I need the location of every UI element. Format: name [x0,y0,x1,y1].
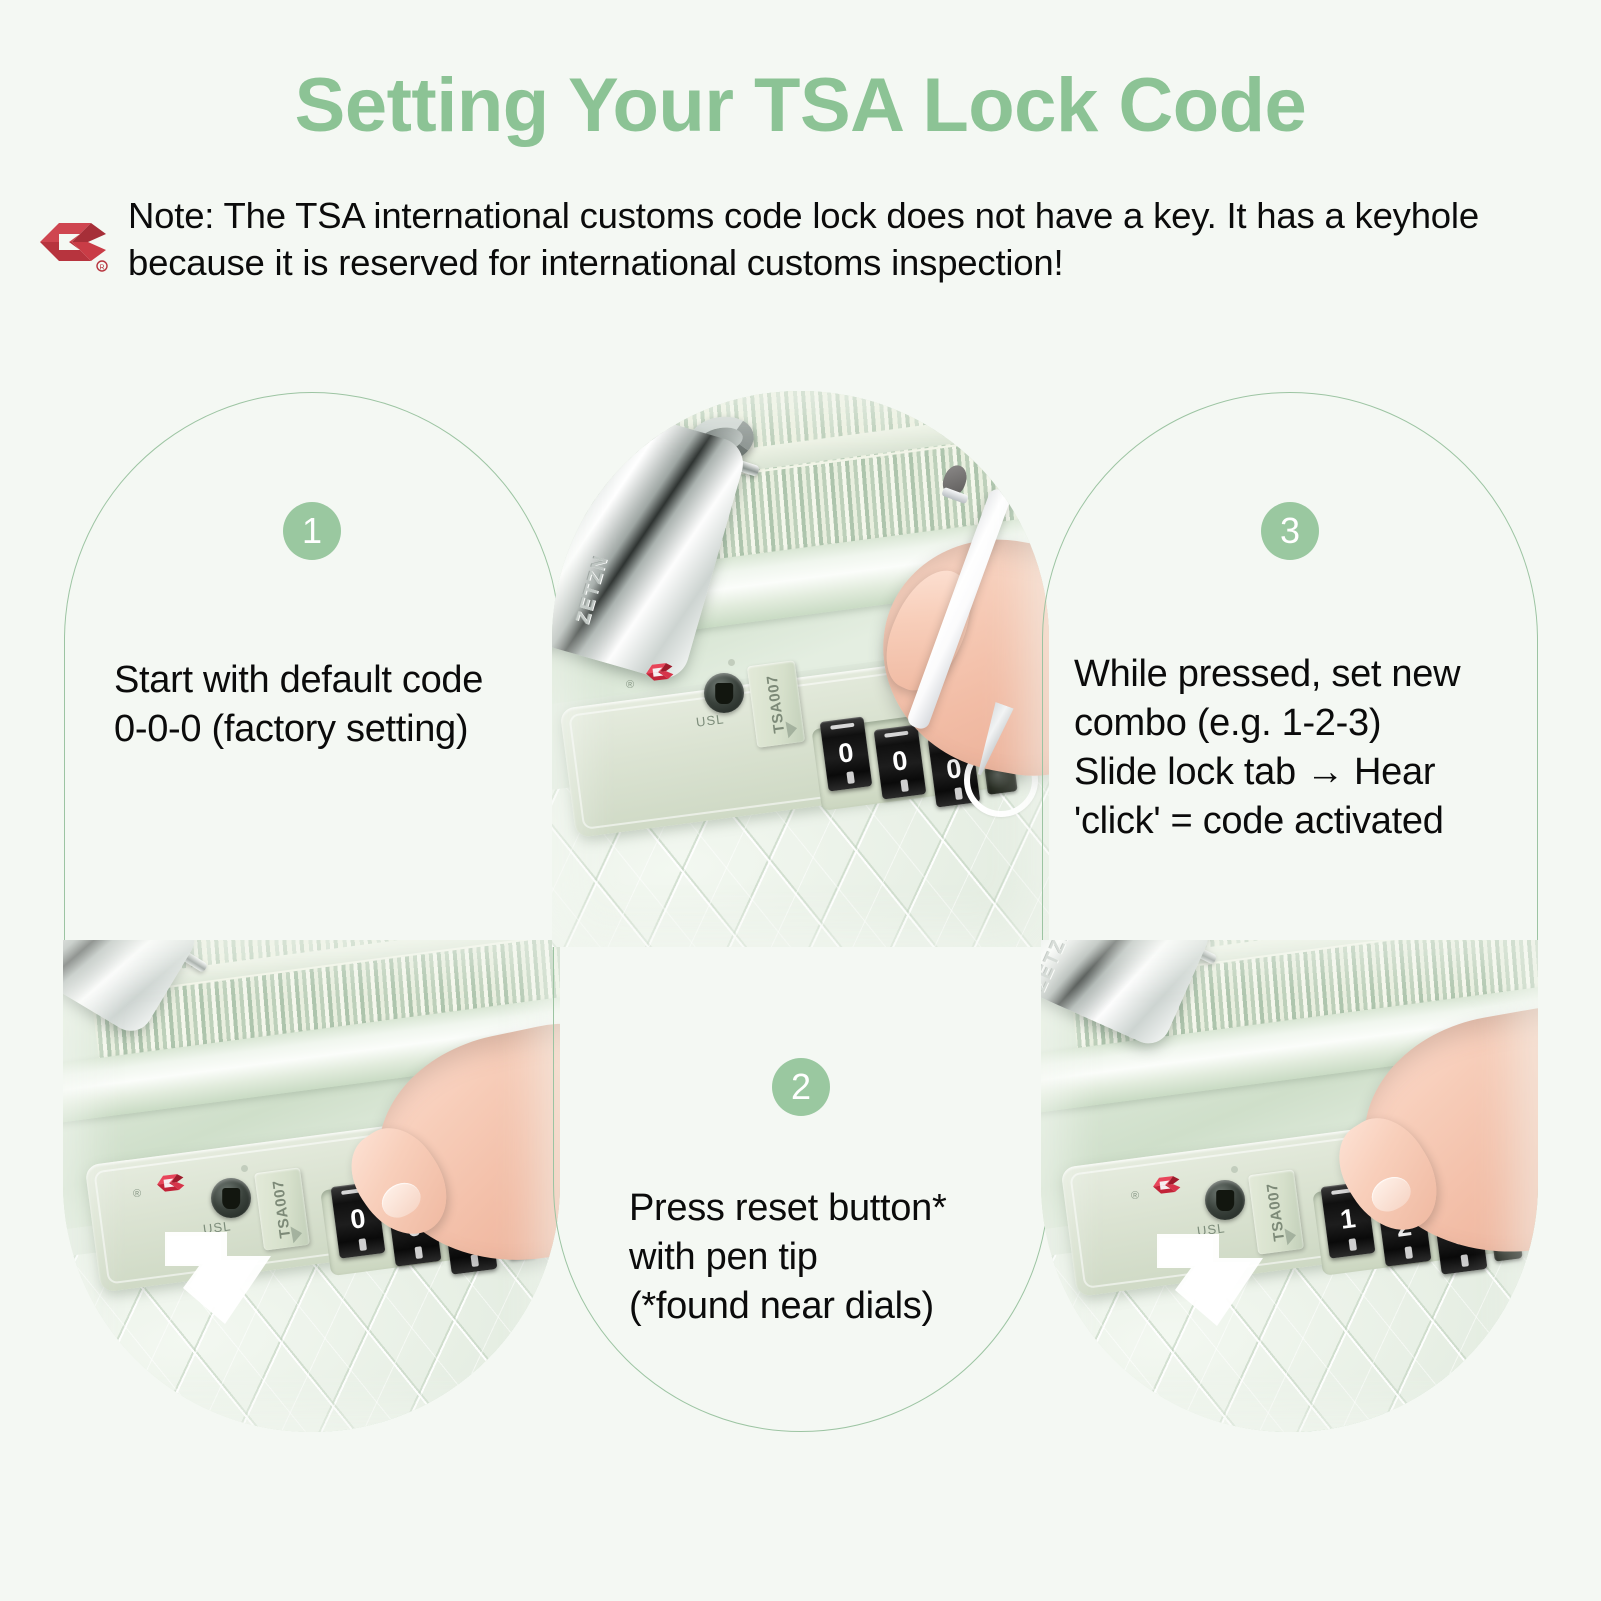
svg-text:R: R [99,265,104,272]
step-text-2: Press reset button* with pen tip (*found… [629,1184,1029,1331]
step-panel-3: 3 While pressed, set new combo (e.g. 1-2… [1042,392,1538,1432]
slide-tab-label: TSA007 [764,674,789,734]
step-badge-2: 2 [772,1058,830,1116]
keyhole-indicator-dot [728,659,735,666]
step-2-line-3: (*found near dials) [629,1282,1029,1331]
white-arrow-right-down-icon [1151,1228,1281,1339]
stylus-pressing-reset-button-photo: ZETZN ® USL TSA007 [552,391,1049,947]
keyhole [1205,1180,1245,1220]
step-1-line-1: Start with default code [114,656,524,705]
step-panel-2: ZETZN ® USL TSA007 [553,392,1049,1432]
tsa-travel-sentry-diamond-icon: R [36,208,110,276]
step-badge-3: 3 [1261,502,1319,560]
step-3-line-3: Slide lock tab → Hear [1074,748,1514,797]
dial-2[interactable]: 0 [874,724,927,799]
step-text-3: While pressed, set new combo (e.g. 1-2-3… [1074,650,1514,846]
finger-on-dials-000-photo: ZETZN ® USL TSA007 [63,940,560,1432]
registered-mark: ® [1131,1190,1139,1202]
keyhole-indicator-dot [1231,1166,1238,1173]
keyhole [211,1178,251,1218]
step-badge-1: 1 [283,502,341,560]
step-2-line-1: Press reset button* [629,1184,1029,1233]
step-3-line-2: combo (e.g. 1-2-3) [1074,699,1514,748]
pull-tab-emboss: ZETZN [1041,940,1078,995]
dial-1-value: 0 [822,737,869,770]
step-3-line-4: 'click' = code activated [1074,797,1514,846]
page-title: Setting Your TSA Lock Code [0,62,1601,149]
note-text: Note: The TSA international customs code… [128,192,1556,287]
finger-on-dials-123-photo: ZETZN ® USL TSA007 [1041,940,1538,1432]
note-row: R Note: The TSA international customs co… [36,192,1556,287]
registered-mark: ® [133,1188,141,1200]
registered-mark: ® [626,679,634,691]
keyhole [704,673,744,713]
dial-1[interactable]: 0 [820,716,873,791]
pull-tab-emboss: ZETZN [63,940,69,971]
step-3-line-1: While pressed, set new [1074,650,1514,699]
step-text-1: Start with default code 0-0-0 (factory s… [114,656,524,754]
keyhole-indicator-dot [241,1165,248,1172]
tsa-diamond-icon [1149,1168,1182,1201]
tsa-diamond-icon [153,1166,186,1199]
tsa-diamond-icon [642,655,675,688]
step-1-line-2: 0-0-0 (factory setting) [114,705,524,754]
step-2-line-2: with pen tip [629,1233,1029,1282]
dial-2-value: 0 [876,745,923,778]
step-panel-1: 1 Start with default code 0-0-0 (factory… [64,392,560,1432]
white-arrow-right-down-icon [159,1226,289,1337]
pull-tab-emboss: ZETZN [573,552,614,627]
